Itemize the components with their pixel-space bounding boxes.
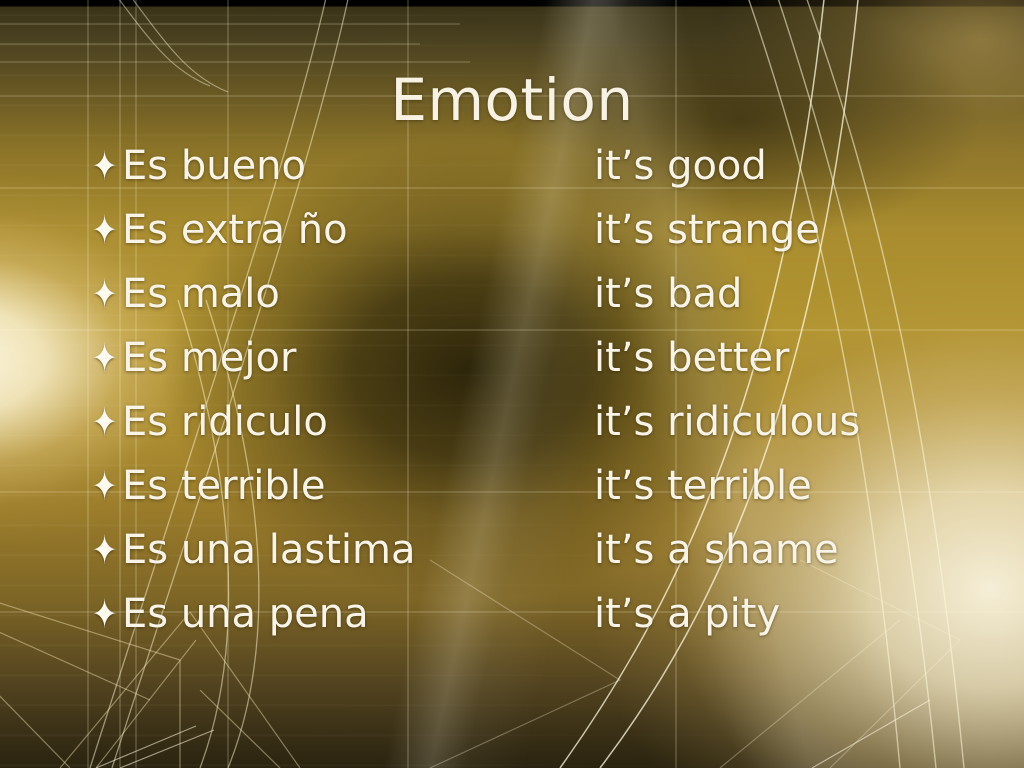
four-point-star-bullet-icon: ✦ — [92, 340, 122, 381]
four-point-star-bullet-icon: ✦ — [92, 468, 122, 509]
spanish-phrase: Es una pena — [122, 594, 594, 634]
list-item: ✦ Es una pena it’s a pity — [92, 594, 972, 658]
spanish-phrase: Es mejor — [122, 338, 594, 378]
english-translation: it’s bad — [594, 274, 972, 314]
spanish-phrase: Es extra ño — [122, 210, 594, 250]
four-point-star-bullet-icon: ✦ — [92, 212, 122, 253]
slide-title: Emotion — [0, 66, 1024, 134]
english-translation: it’s good — [594, 146, 972, 186]
english-translation: it’s a shame — [594, 530, 972, 570]
list-item: ✦ Es ridiculo it’s ridiculous — [92, 402, 972, 466]
four-point-star-bullet-icon: ✦ — [92, 596, 122, 637]
list-item: ✦ Es terrible it’s terrible — [92, 466, 972, 530]
list-item: ✦ Es una lastima it’s a shame — [92, 530, 972, 594]
english-translation: it’s ridiculous — [594, 402, 972, 442]
english-translation: it’s better — [594, 338, 972, 378]
english-translation: it’s strange — [594, 210, 972, 250]
spanish-phrase: Es una lastima — [122, 530, 594, 570]
list-item: ✦ Es bueno it’s good — [92, 146, 972, 210]
four-point-star-bullet-icon: ✦ — [92, 148, 122, 189]
presentation-slide: Emotion ✦ Es bueno it’s good ✦ Es extra … — [0, 0, 1024, 768]
list-item: ✦ Es extra ño it’s strange — [92, 210, 972, 274]
spanish-phrase: Es bueno — [122, 146, 594, 186]
spanish-phrase: Es ridiculo — [122, 402, 594, 442]
slide-content: Emotion ✦ Es bueno it’s good ✦ Es extra … — [0, 0, 1024, 768]
spanish-phrase: Es terrible — [122, 466, 594, 506]
four-point-star-bullet-icon: ✦ — [92, 532, 122, 573]
four-point-star-bullet-icon: ✦ — [92, 404, 122, 445]
english-translation: it’s a pity — [594, 594, 972, 634]
spanish-phrase: Es malo — [122, 274, 594, 314]
english-translation: it’s terrible — [594, 466, 972, 506]
list-item: ✦ Es malo it’s bad — [92, 274, 972, 338]
list-item: ✦ Es mejor it’s better — [92, 338, 972, 402]
vocabulary-list: ✦ Es bueno it’s good ✦ Es extra ño it’s … — [92, 146, 972, 658]
four-point-star-bullet-icon: ✦ — [92, 276, 122, 317]
